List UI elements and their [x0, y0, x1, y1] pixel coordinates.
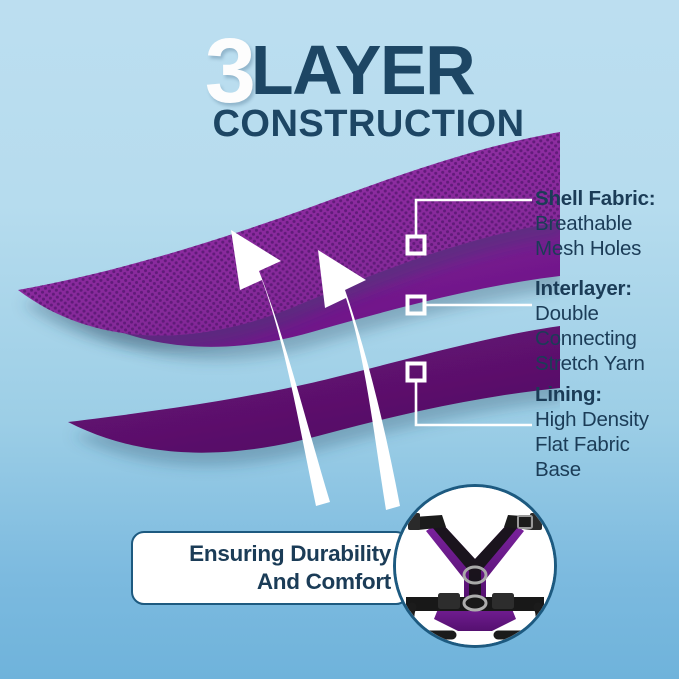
callout-lining-line-3: Base	[535, 457, 649, 482]
product-photo-circle	[393, 484, 557, 648]
callout-interlayer: Interlayer: Double Connecting Stretch Ya…	[535, 276, 645, 376]
callout-interlayer-line-2: Connecting	[535, 326, 645, 351]
title-line-primary: 3LAYER	[0, 34, 679, 109]
tagline-text: Ensuring Durability And Comfort	[189, 540, 391, 596]
callout-lining-line-2: Flat Fabric	[535, 432, 649, 457]
callout-lining: Lining: High Density Flat Fabric Base	[535, 382, 649, 482]
callout-lining-line-1: High Density	[535, 407, 649, 432]
fabric-layers-illustration	[0, 130, 560, 510]
shell-fabric-layer	[18, 132, 560, 336]
callout-interlayer-line-3: Stretch Yarn	[535, 351, 645, 376]
tagline-banner: Ensuring Durability And Comfort	[131, 531, 409, 605]
callout-shell-line-2: Mesh Holes	[535, 236, 655, 261]
callout-interlayer-line-1: Double	[535, 301, 645, 326]
dog-harness-icon	[396, 487, 554, 645]
tagline-line-1: Ensuring Durability	[189, 540, 391, 568]
title-number: 3	[205, 20, 253, 122]
callout-shell-line-1: Breathable	[535, 211, 655, 236]
callout-interlayer-title: Interlayer:	[535, 276, 645, 301]
title-word-layer: LAYER	[251, 31, 474, 109]
callout-lining-title: Lining:	[535, 382, 649, 407]
infographic-canvas: 3LAYER CONSTRUCTION	[0, 0, 679, 679]
page-title: 3LAYER CONSTRUCTION	[0, 34, 679, 143]
tagline-line-2: And Comfort	[189, 568, 391, 596]
callout-shell-fabric: Shell Fabric: Breathable Mesh Holes	[535, 186, 655, 261]
lining-layer	[68, 326, 560, 453]
callout-shell-title: Shell Fabric:	[535, 186, 655, 211]
